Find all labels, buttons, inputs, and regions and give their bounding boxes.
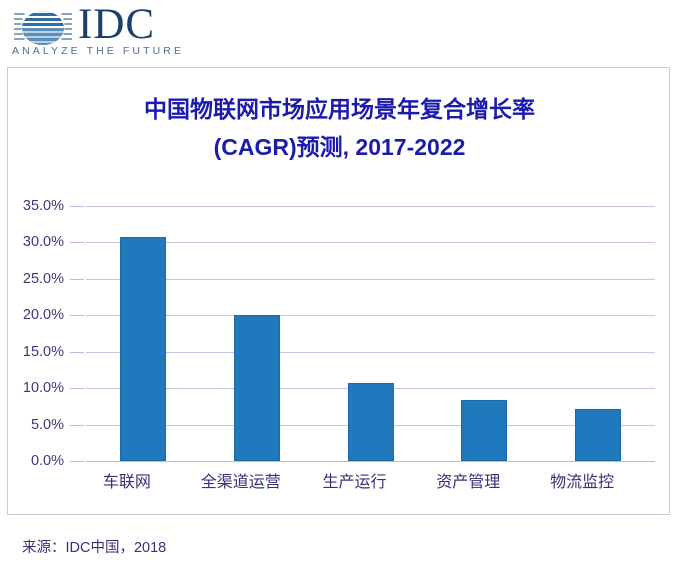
x-axis-category-label: 车联网: [70, 472, 184, 494]
x-axis-labels: 车联网全渠道运营生产运行资产管理物流监控: [70, 472, 655, 502]
source-note: 来源：IDC中国，2018: [22, 536, 166, 557]
bar[interactable]: [234, 315, 280, 461]
x-axis-category-label: 生产运行: [298, 472, 412, 494]
y-axis-tick: [70, 315, 84, 316]
idc-wordmark: IDC: [78, 2, 155, 48]
gridline: [86, 352, 655, 353]
x-axis-category-label: 资产管理: [411, 472, 525, 494]
y-axis-tick: [70, 388, 84, 389]
y-axis-labels: 35.0%30.0%25.0%20.0%15.0%10.0%5.0%0.0%: [0, 201, 64, 463]
plot-area: [70, 201, 655, 463]
y-axis-tick: [70, 461, 84, 462]
y-axis-tick: [70, 242, 84, 243]
idc-tagline: ANALYZE THE FUTURE: [12, 45, 184, 57]
x-axis-category-label: 全渠道运营: [184, 472, 298, 494]
striped-globe-icon: [14, 7, 72, 49]
chart-title-line2: (CAGR)预测, 2017-2022: [8, 128, 671, 166]
y-axis-tick-label: 35.0%: [0, 199, 64, 213]
bar[interactable]: [348, 383, 394, 461]
y-axis-tick-label: 25.0%: [0, 272, 64, 286]
gridline: [86, 461, 655, 462]
gridline: [86, 279, 655, 280]
y-axis-tick-label: 30.0%: [0, 235, 64, 249]
gridline: [86, 206, 655, 207]
y-axis-tick-label: 20.0%: [0, 308, 64, 322]
x-axis-category-label: 物流监控: [525, 472, 639, 494]
chart-title: 中国物联网市场应用场景年复合增长率 (CAGR)预测, 2017-2022: [8, 90, 671, 166]
bar[interactable]: [461, 400, 507, 461]
y-axis-tick-label: 15.0%: [0, 345, 64, 359]
gridline: [86, 315, 655, 316]
y-axis-tick-label: 5.0%: [0, 418, 64, 432]
y-axis-tick: [70, 206, 84, 207]
bar[interactable]: [120, 237, 166, 461]
chart-container: 中国物联网市场应用场景年复合增长率 (CAGR)预测, 2017-2022 35…: [7, 67, 670, 515]
bar[interactable]: [575, 409, 621, 461]
y-axis-tick: [70, 425, 84, 426]
y-axis-tick-label: 0.0%: [0, 454, 64, 468]
chart-title-line1: 中国物联网市场应用场景年复合增长率: [144, 96, 535, 122]
y-axis-tick: [70, 352, 84, 353]
idc-logo-band: IDC ANALYZE THE FUTURE: [0, 0, 689, 62]
y-axis-tick-label: 10.0%: [0, 381, 64, 395]
y-axis-tick: [70, 279, 84, 280]
gridline: [86, 242, 655, 243]
